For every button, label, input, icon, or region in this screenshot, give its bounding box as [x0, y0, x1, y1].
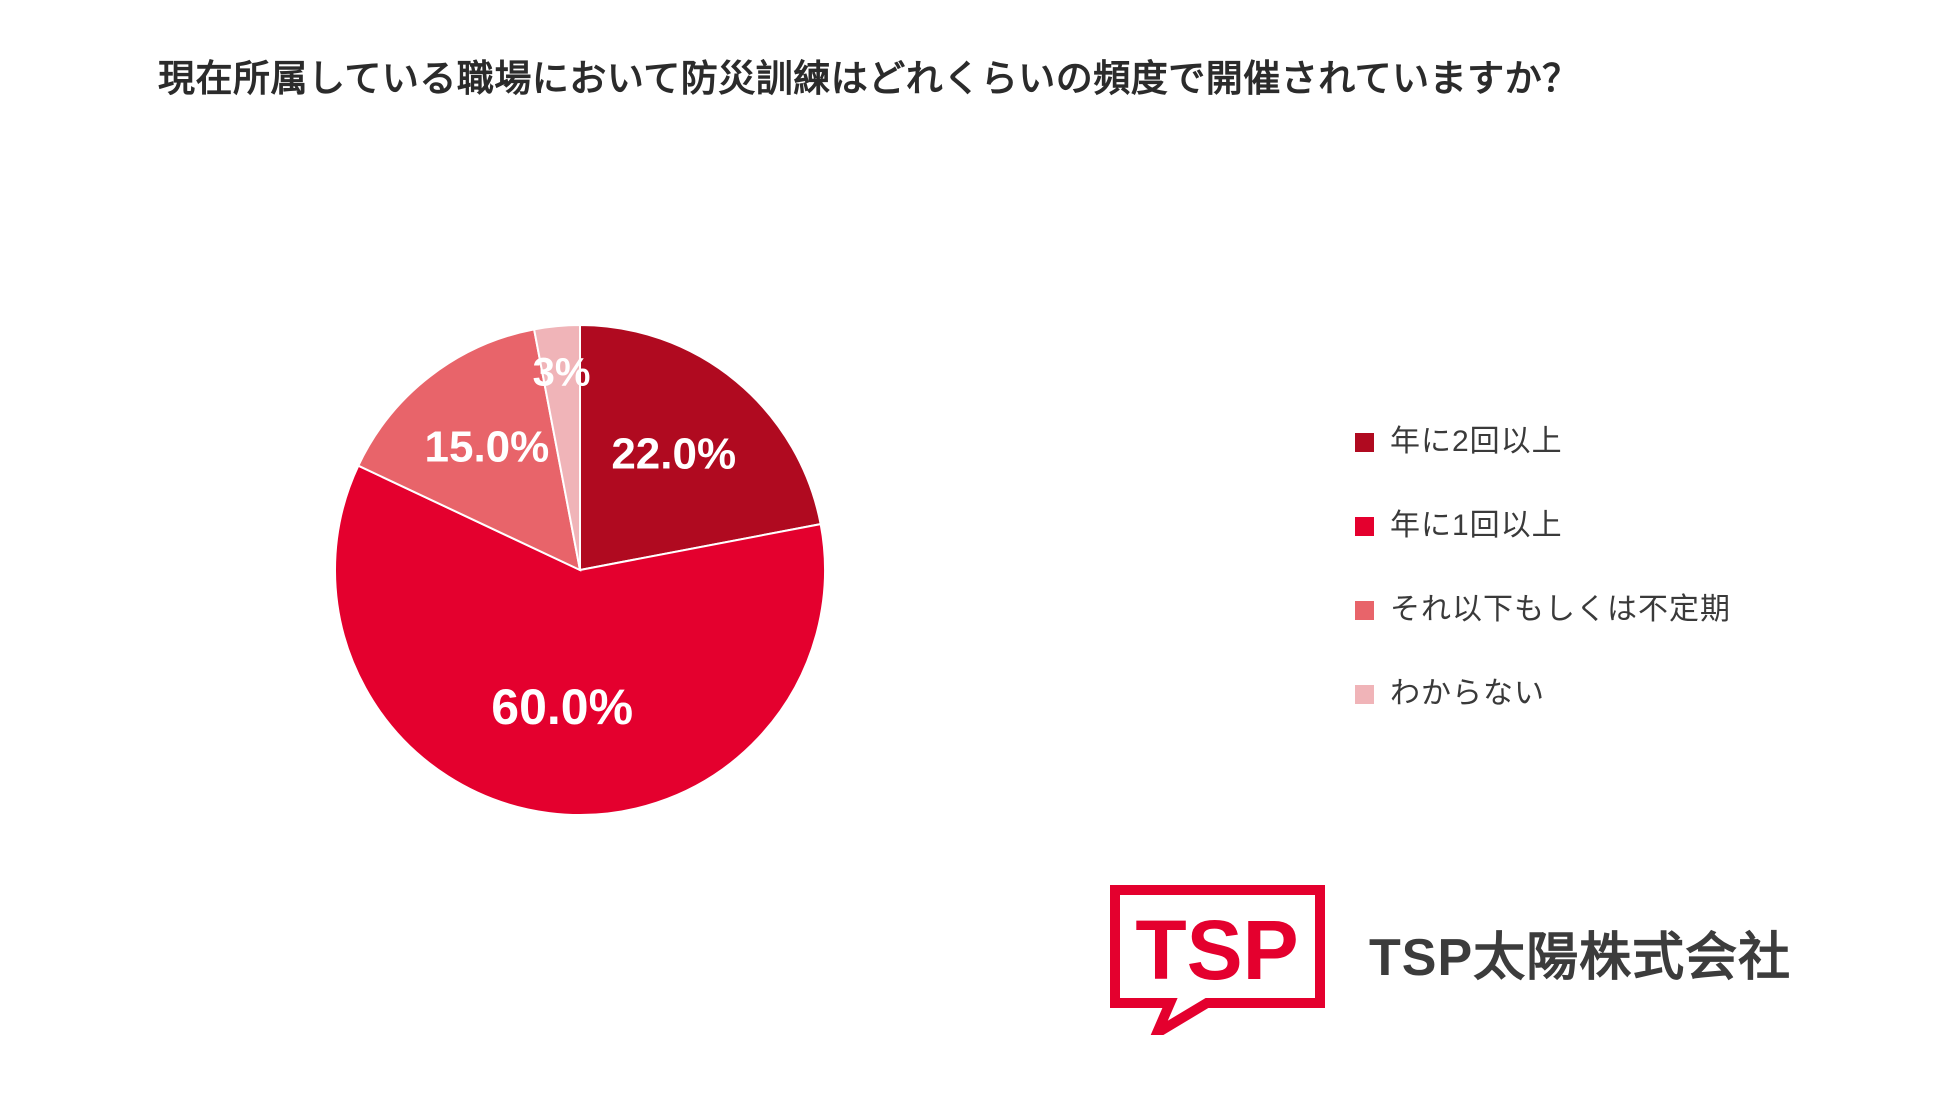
pie-chart: 22.0%60.0%15.0%3%	[330, 320, 830, 820]
legend-item-2[interactable]: それ以下もしくは不定期	[1355, 568, 1825, 652]
company-name: TSP太陽株式会社	[1369, 915, 1791, 990]
legend-swatch-icon-3	[1355, 685, 1374, 704]
pie-slice-group	[335, 325, 825, 815]
legend-item-1[interactable]: 年に1回以上	[1355, 484, 1825, 568]
legend-item-3[interactable]: わからない	[1355, 652, 1825, 736]
legend-item-0[interactable]: 年に2回以上	[1355, 400, 1825, 484]
brand-logo-block: TSP TSP太陽株式会社	[1110, 885, 1791, 1035]
pie-slice-label-2: 15.0%	[425, 423, 550, 472]
legend-swatch-icon-1	[1355, 517, 1374, 536]
legend-label-0: 年に2回以上	[1390, 427, 1563, 457]
legend-swatch-icon-2	[1355, 601, 1374, 620]
pie-chart-svg: 22.0%60.0%15.0%3%	[330, 320, 830, 820]
tsp-logo-letters: TSP	[1135, 903, 1298, 997]
legend-label-3: わからない	[1390, 679, 1545, 709]
pie-slice-label-0: 22.0%	[611, 429, 736, 478]
legend-swatch-icon-0	[1355, 433, 1374, 452]
pie-slice-label-3: 3%	[533, 350, 591, 394]
page-title: 現在所属している職場において防災訓練はどれくらいの頻度で開催されていますか？	[158, 48, 1858, 102]
chart-legend: 年に2回以上 年に1回以上 それ以下もしくは不定期 わからない	[1355, 400, 1825, 736]
pie-slice-label-1: 60.0%	[491, 679, 633, 735]
tsp-logo-icon: TSP	[1110, 885, 1325, 1035]
legend-label-1: 年に1回以上	[1390, 511, 1563, 541]
legend-label-2: それ以下もしくは不定期	[1390, 595, 1731, 625]
